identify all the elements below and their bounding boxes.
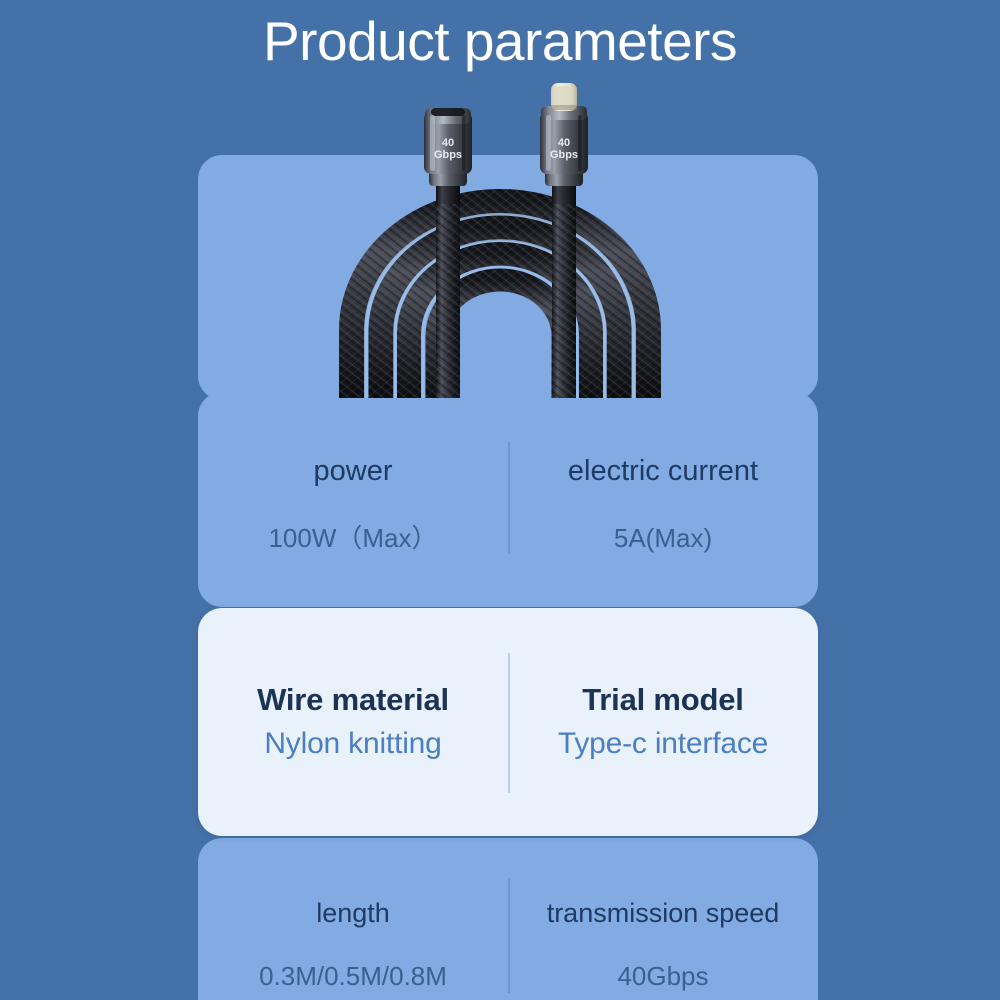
param-value: Type-c interface bbox=[558, 725, 768, 763]
param-value: 100W（Max） bbox=[268, 523, 437, 553]
spec-row-power-current: power 100W（Max） electric current 5A(Max) bbox=[198, 392, 818, 607]
badge-40gbps-right-line1: 40 bbox=[558, 137, 570, 149]
page-title: Product parameters bbox=[0, 6, 1000, 76]
param-value: 5A(Max) bbox=[614, 523, 712, 553]
product-parameters-infographic: Product parameters power 100W（Max） elect… bbox=[0, 0, 1000, 1000]
param-value: 40Gbps bbox=[617, 961, 708, 991]
param-label: power bbox=[314, 454, 393, 488]
spec-row-length-speed: length 0.3M/0.5M/0.8M transmission speed… bbox=[198, 838, 818, 1000]
param-cell-trial-model: Trial model Type-c interface bbox=[508, 608, 818, 836]
param-label: transmission speed bbox=[547, 897, 780, 929]
column-divider bbox=[508, 878, 510, 993]
param-cell-length: length 0.3M/0.5M/0.8M bbox=[198, 838, 508, 1000]
param-label: electric current bbox=[568, 454, 758, 488]
column-divider bbox=[508, 653, 510, 793]
badge-40gbps-left-line1: 40 bbox=[442, 137, 454, 149]
param-value: 0.3M/0.5M/0.8M bbox=[259, 961, 447, 991]
spec-row-material-model: Wire material Nylon knitting Trial model… bbox=[198, 608, 818, 836]
param-value: Nylon knitting bbox=[264, 725, 441, 763]
param-cell-transmission-speed: transmission speed 40Gbps bbox=[508, 838, 818, 1000]
param-label: Wire material bbox=[257, 681, 449, 719]
product-image-card bbox=[198, 155, 818, 400]
column-divider bbox=[508, 442, 510, 554]
param-label: Trial model bbox=[582, 681, 743, 719]
param-cell-power: power 100W（Max） bbox=[198, 392, 508, 607]
param-cell-electric-current: electric current 5A(Max) bbox=[508, 392, 818, 607]
param-label: length bbox=[316, 897, 390, 929]
param-cell-wire-material: Wire material Nylon knitting bbox=[198, 608, 508, 836]
